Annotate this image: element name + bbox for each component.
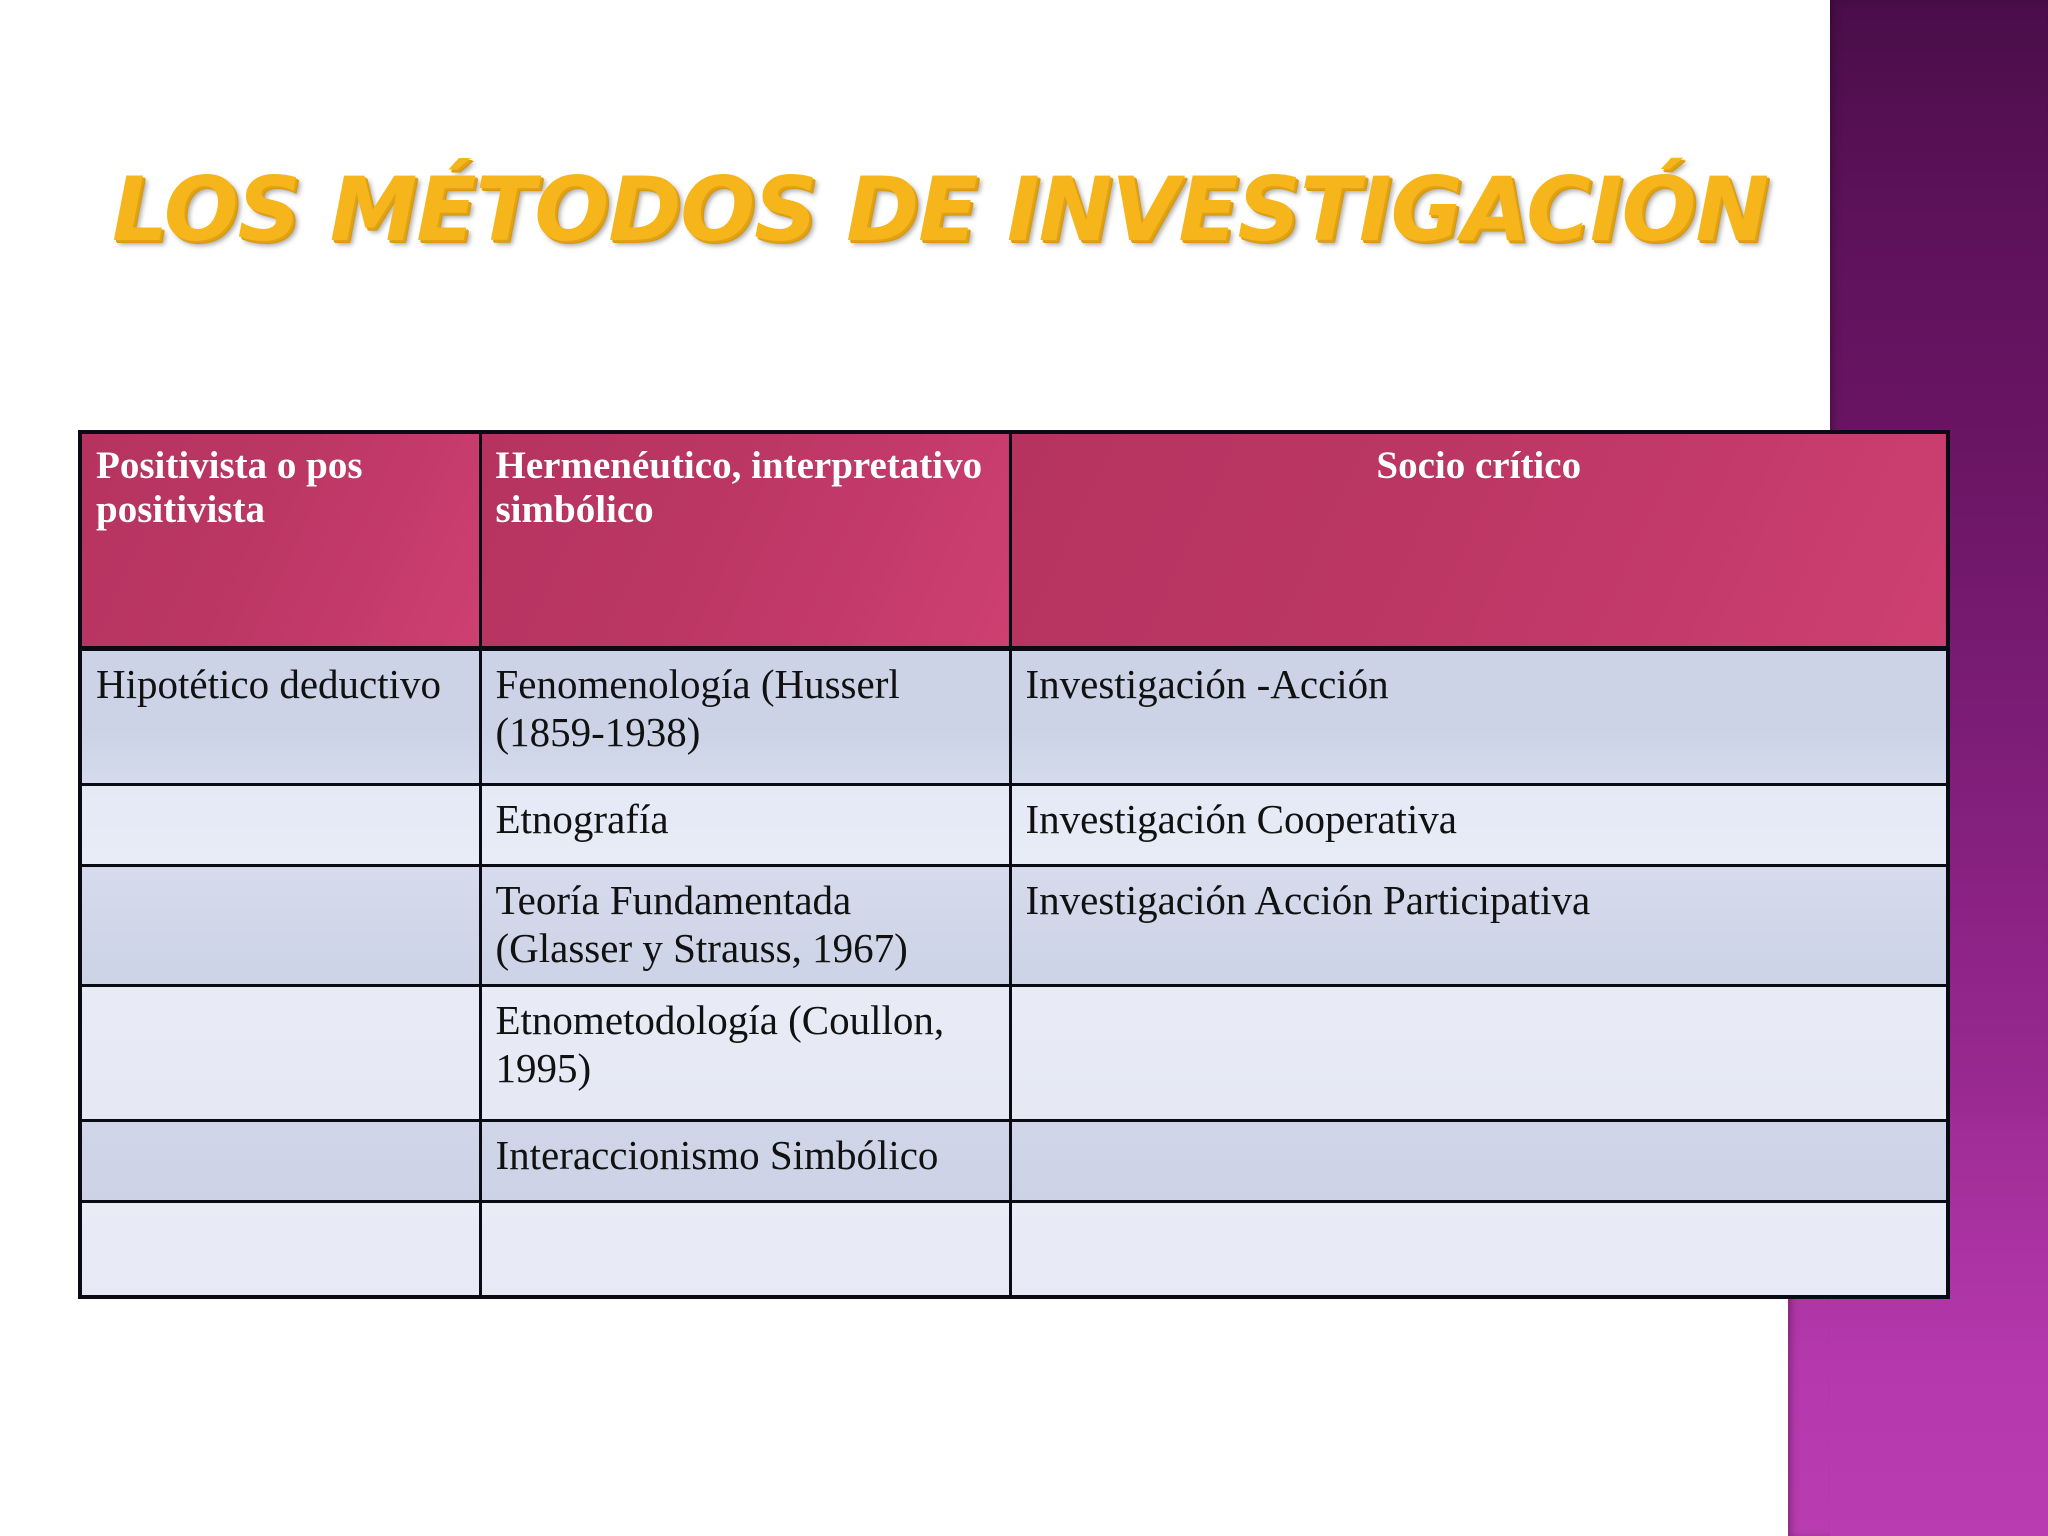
cell-positivista-6 xyxy=(80,1202,480,1298)
cell-socio-critico-4 xyxy=(1010,986,1948,1121)
page-title: LOS MÉTODOS DE INVESTIGACIÓN xyxy=(0,158,1880,261)
column-header-hermeneutico: Hermenéutico, interpretativo simbólico xyxy=(480,432,1010,649)
cell-socio-critico-6 xyxy=(1010,1202,1948,1298)
cell-hermeneutico-2: Etnografía xyxy=(480,785,1010,866)
table-header-row: Positivista o pos positivista Hermenéuti… xyxy=(80,432,1948,649)
table-row: Etnometodología (Coullon, 1995) xyxy=(80,986,1948,1121)
cell-positivista-4 xyxy=(80,986,480,1121)
column-header-positivista: Positivista o pos positivista xyxy=(80,432,480,649)
table-row: Etnografía Investigación Cooperativa xyxy=(80,785,1948,866)
cell-hermeneutico-4: Etnometodología (Coullon, 1995) xyxy=(480,986,1010,1121)
cell-socio-critico-5 xyxy=(1010,1121,1948,1202)
column-header-socio-critico: Socio crítico xyxy=(1010,432,1948,649)
cell-positivista-3 xyxy=(80,866,480,986)
cell-positivista-2 xyxy=(80,785,480,866)
table-row: Hipotético deductivo Fenomenología (Huss… xyxy=(80,649,1948,785)
cell-positivista-1: Hipotético deductivo xyxy=(80,649,480,785)
table-row: Interaccionismo Simbólico xyxy=(80,1121,1948,1202)
cell-positivista-5 xyxy=(80,1121,480,1202)
table-head: Positivista o pos positivista Hermenéuti… xyxy=(80,432,1948,649)
cell-hermeneutico-1: Fenomenología (Husserl (1859-1938) xyxy=(480,649,1010,785)
cell-socio-critico-1: Investigación -Acción xyxy=(1010,649,1948,785)
cell-hermeneutico-3: Teoría Fundamentada (Glasser y Strauss, … xyxy=(480,866,1010,986)
table-row: Teoría Fundamentada (Glasser y Strauss, … xyxy=(80,866,1948,986)
table-row xyxy=(80,1202,1948,1298)
table-body: Hipotético deductivo Fenomenología (Huss… xyxy=(80,649,1948,1298)
cell-socio-critico-2: Investigación Cooperativa xyxy=(1010,785,1948,866)
methods-table-container: Positivista o pos positivista Hermenéuti… xyxy=(78,430,1950,1299)
cell-socio-critico-3: Investigación Acción Participativa xyxy=(1010,866,1948,986)
cell-hermeneutico-5: Interaccionismo Simbólico xyxy=(480,1121,1010,1202)
cell-hermeneutico-6 xyxy=(480,1202,1010,1298)
methods-table: Positivista o pos positivista Hermenéuti… xyxy=(78,430,1950,1299)
